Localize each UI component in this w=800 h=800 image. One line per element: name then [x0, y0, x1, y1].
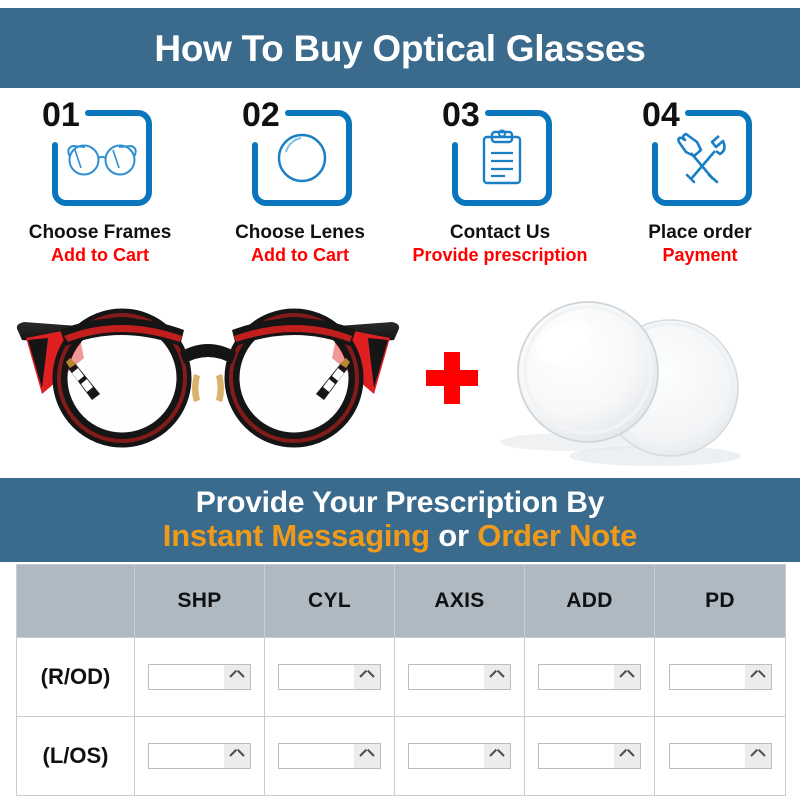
or-label: or — [438, 518, 469, 553]
chevron-up-icon[interactable] — [745, 665, 771, 689]
step-01-graphic: 01 — [40, 96, 160, 216]
step-03-number: 03 — [440, 98, 482, 132]
chevron-up-icon[interactable] — [745, 744, 771, 768]
prescription-banner-line1: Provide Your Prescription By — [196, 488, 604, 519]
step-01-number: 01 — [40, 98, 82, 132]
chevron-up-icon[interactable] — [484, 665, 510, 689]
select-r-cyl[interactable] — [278, 664, 381, 690]
table-corner-cell — [17, 565, 135, 638]
step-02-action: Add to Cart — [235, 245, 365, 265]
step-04-graphic: 04 — [640, 96, 760, 216]
promo-page: How To Buy Optical Glasses 01 — [0, 0, 800, 800]
cell-l-axis — [395, 717, 525, 796]
page-header-banner: How To Buy Optical Glasses — [0, 8, 800, 88]
step-04: 04 — [600, 96, 800, 286]
column-header-add: ADD — [525, 565, 655, 638]
step-01-caption: Choose Frames Add to Cart — [29, 222, 172, 265]
cell-l-pd — [655, 717, 786, 796]
prescription-table: SHP CYL AXIS ADD PD (R/OD) — [16, 564, 786, 796]
step-01-title: Choose Frames — [29, 222, 172, 243]
cell-l-shp — [135, 717, 265, 796]
row-label-l-os: (L/OS) — [17, 717, 135, 796]
page-title: How To Buy Optical Glasses — [154, 30, 645, 67]
step-04-number: 04 — [640, 98, 682, 132]
step-04-caption: Place order Payment — [648, 222, 752, 265]
column-header-shp: SHP — [135, 565, 265, 638]
step-02-title: Choose Lenes — [235, 222, 365, 243]
chevron-up-icon[interactable] — [354, 744, 380, 768]
eyeglasses-product-image — [8, 296, 408, 466]
step-03-title: Contact Us — [412, 222, 587, 243]
prescription-banner-line2: Instant Messaging or Order Note — [163, 520, 637, 552]
step-01: 01 Choose Frames — [0, 96, 200, 286]
step-03-action: Provide prescription — [412, 245, 587, 265]
chevron-up-icon[interactable] — [224, 744, 250, 768]
step-03-caption: Contact Us Provide prescription — [412, 222, 587, 265]
select-r-axis[interactable] — [408, 664, 511, 690]
step-02-caption: Choose Lenes Add to Cart — [235, 222, 365, 265]
cell-r-axis — [395, 638, 525, 717]
step-03-graphic: 03 — [440, 96, 560, 216]
row-label-r-od: (R/OD) — [17, 638, 135, 717]
chevron-up-icon[interactable] — [614, 665, 640, 689]
order-note-label: Order Note — [477, 518, 637, 553]
chevron-up-icon[interactable] — [614, 744, 640, 768]
product-row — [0, 292, 800, 474]
select-r-shp[interactable] — [148, 664, 251, 690]
step-03: 03 Contact Us — [400, 96, 600, 286]
step-02: 02 Choose Lenes Add to Cart — [200, 96, 400, 286]
step-04-action: Payment — [648, 245, 752, 265]
step-04-title: Place order — [648, 222, 752, 243]
step-02-number: 02 — [240, 98, 282, 132]
step-01-action: Add to Cart — [29, 245, 172, 265]
select-l-axis[interactable] — [408, 743, 511, 769]
table-header-row: SHP CYL AXIS ADD PD — [17, 565, 786, 638]
plus-icon — [424, 350, 480, 406]
select-r-pd[interactable] — [669, 664, 772, 690]
chevron-up-icon[interactable] — [354, 665, 380, 689]
select-l-shp[interactable] — [148, 743, 251, 769]
column-header-axis: AXIS — [395, 565, 525, 638]
cell-r-shp — [135, 638, 265, 717]
chevron-up-icon[interactable] — [224, 665, 250, 689]
column-header-cyl: CYL — [265, 565, 395, 638]
column-header-pd: PD — [655, 565, 786, 638]
cell-r-pd — [655, 638, 786, 717]
cell-r-cyl — [265, 638, 395, 717]
table-row-left-eye: (L/OS) — [17, 717, 786, 796]
select-l-cyl[interactable] — [278, 743, 381, 769]
select-l-pd[interactable] — [669, 743, 772, 769]
chevron-up-icon[interactable] — [484, 744, 510, 768]
table-row-right-eye: (R/OD) — [17, 638, 786, 717]
cell-l-add — [525, 717, 655, 796]
instant-messaging-label: Instant Messaging — [163, 518, 430, 553]
cell-r-add — [525, 638, 655, 717]
prescription-banner: Provide Your Prescription By Instant Mes… — [0, 478, 800, 562]
step-02-graphic: 02 — [240, 96, 360, 216]
optical-lenses-product-image — [480, 296, 790, 471]
select-l-add[interactable] — [538, 743, 641, 769]
select-r-add[interactable] — [538, 664, 641, 690]
steps-row: 01 Choose Frames — [0, 96, 800, 286]
cell-l-cyl — [265, 717, 395, 796]
